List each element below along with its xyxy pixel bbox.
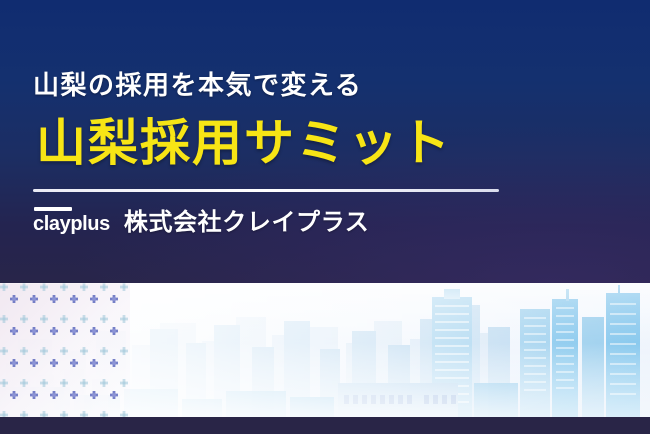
cityscape-illustration xyxy=(0,283,650,417)
banner-subtitle: 山梨の採用を本気で変える xyxy=(33,72,362,98)
logo-wordmark: clayplus xyxy=(33,213,110,235)
divider-rule xyxy=(33,189,499,192)
logo-bar-icon xyxy=(34,207,72,211)
cityscape-band xyxy=(0,283,650,417)
bottom-strip xyxy=(0,417,650,434)
banner-title: 山梨採用サミット xyxy=(36,118,452,168)
event-banner: 山梨の採用を本気で変える 山梨採用サミット clayplus 株式会社クレイプラ… xyxy=(0,0,650,434)
band-top-edge xyxy=(0,283,650,284)
company-name: 株式会社クレイプラス xyxy=(124,211,370,235)
hero-section: 山梨の採用を本気で変える 山梨採用サミット clayplus 株式会社クレイプラ… xyxy=(0,0,650,283)
clayplus-logo: clayplus xyxy=(33,207,110,235)
brand-row: clayplus 株式会社クレイプラス xyxy=(33,207,369,235)
